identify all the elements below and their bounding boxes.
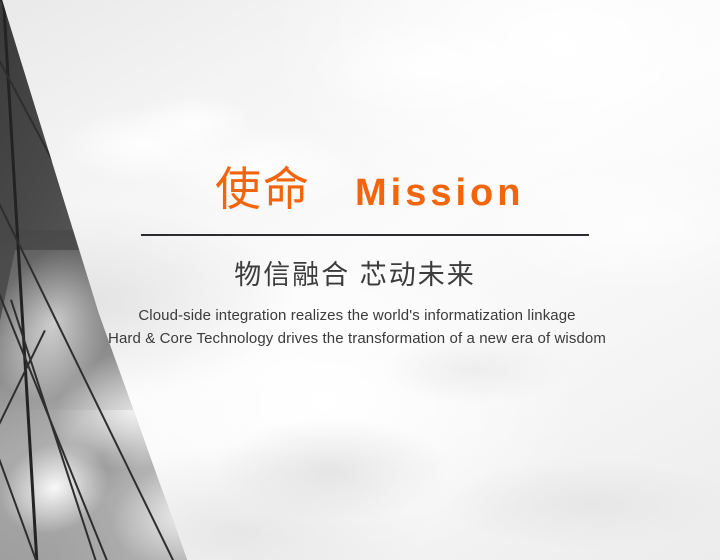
title-row: 使命 Mission [141,166,524,212]
title-divider [141,234,589,236]
mission-banner: 使命 Mission 物信融合 芯动未来 Cloud-side integrat… [0,0,720,560]
subtitle-chinese: 物信融合 芯动未来 [0,259,720,291]
tagline-line-1: Cloud-side integration realizes the worl… [0,304,720,327]
page-title-chinese: 使命 [215,166,311,212]
banner-content: 使命 Mission 物信融合 芯动未来 Cloud-side integrat… [0,0,720,560]
page-title-english: Mission [355,174,524,212]
tagline-line-2: Hard & Core Technology drives the transf… [0,327,720,350]
